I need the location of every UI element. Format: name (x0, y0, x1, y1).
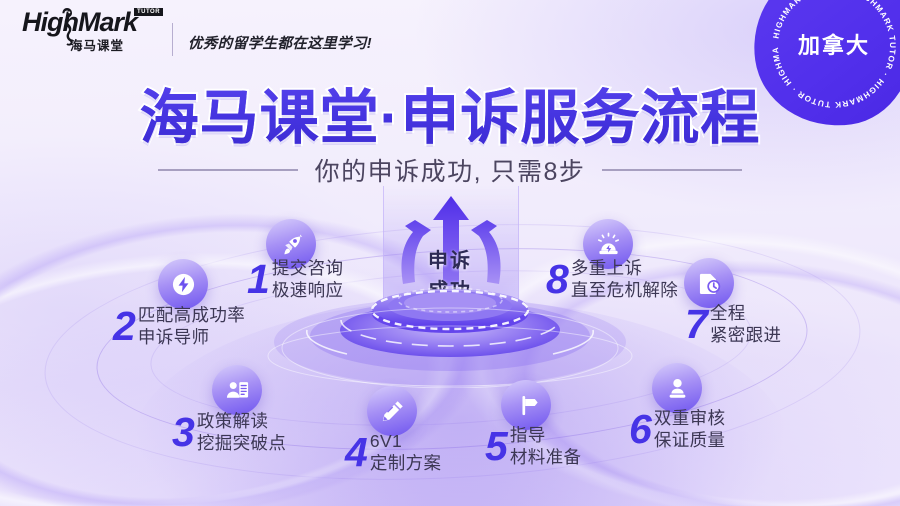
step-5-number: 5 (485, 429, 507, 464)
brand-slogan: 优秀的留学生都在这里学习! (188, 32, 372, 53)
logo-mark: HighMark TUTOR 海马课堂 (22, 9, 137, 36)
step-3-line2: 挖掘突破点 (197, 433, 287, 454)
step-8-body: 8 多重上诉 直至危机解除 (546, 258, 678, 300)
step-8-number: 8 (546, 262, 568, 297)
step-7-body: 7 全程 紧密跟进 (685, 303, 781, 345)
step-1-body: 1 提交咨询 极速响应 (247, 258, 343, 300)
step-3-number: 3 (172, 415, 194, 450)
step-7-number: 7 (685, 307, 707, 342)
step-8-line1: 多重上诉 (571, 258, 678, 279)
step-3-line1: 政策解读 (197, 411, 287, 432)
seahorse-icon (58, 6, 75, 48)
person-document-icon (212, 365, 262, 415)
step-7-line2: 紧密跟进 (710, 325, 782, 346)
subtitle-rule-right (602, 169, 742, 171)
header: HighMark TUTOR 海马课堂 优秀的留学生都在这里学习! HIGHMA… (0, 0, 900, 62)
signpost-icon (501, 380, 551, 430)
infographic-poster: HighMark TUTOR 海马课堂 优秀的留学生都在这里学习! HIGHMA… (0, 0, 900, 506)
badge-country-label: 加拿大 (754, 28, 900, 60)
pen-edit-icon (367, 386, 417, 436)
step-6-number: 6 (629, 412, 651, 447)
logo-tutor-tag: TUTOR (134, 8, 163, 16)
step-1-number: 1 (247, 262, 269, 297)
step-4-body: 4 6V1 定制方案 (345, 431, 441, 473)
subtitle-rule-left (158, 169, 298, 171)
step-8-line2: 直至危机解除 (571, 280, 678, 301)
brand-logo[interactable]: HighMark TUTOR 海马课堂 优秀的留学生都在这里学习! (22, 9, 137, 36)
subtitle-row: 你的申诉成功, 只需8步 (0, 152, 900, 188)
step-1-line1: 提交咨询 (272, 258, 344, 279)
lightning-bolt-icon (158, 259, 208, 309)
header-divider (172, 23, 173, 56)
stamp-icon (652, 363, 702, 413)
step-3-body: 3 政策解读 挖掘突破点 (172, 411, 286, 453)
step-5-body: 5 指导 材料准备 (485, 425, 581, 467)
step-6-line1: 双重审核 (654, 408, 726, 429)
center-text-line1: 申诉 (345, 244, 555, 273)
step-2-line2: 申诉导师 (138, 327, 245, 348)
step-4-line1: 6V1 (370, 431, 442, 452)
step-2-body: 2 匹配高成功率 申诉导师 (113, 305, 245, 347)
step-6-line2: 保证质量 (654, 430, 726, 451)
step-4-number: 4 (345, 435, 367, 470)
step-1-line2: 极速响应 (272, 280, 344, 301)
logo-chinese-name: 海马课堂 (70, 35, 124, 54)
step-5-line1: 指导 (510, 425, 582, 446)
page-title: 海马课堂·申诉服务流程 (0, 70, 900, 155)
step-4-line2: 定制方案 (370, 453, 442, 474)
step-2-number: 2 (113, 309, 135, 344)
step-5-line2: 材料准备 (510, 447, 582, 468)
logo-wordmark: HighMark (22, 9, 137, 36)
subtitle: 你的申诉成功, 只需8步 (315, 152, 586, 188)
center-graphic: 申诉 成功 (345, 186, 555, 376)
step-2-line1: 匹配高成功率 (138, 305, 245, 326)
step-7-line1: 全程 (710, 303, 782, 324)
step-6-body: 6 双重审核 保证质量 (629, 408, 725, 450)
